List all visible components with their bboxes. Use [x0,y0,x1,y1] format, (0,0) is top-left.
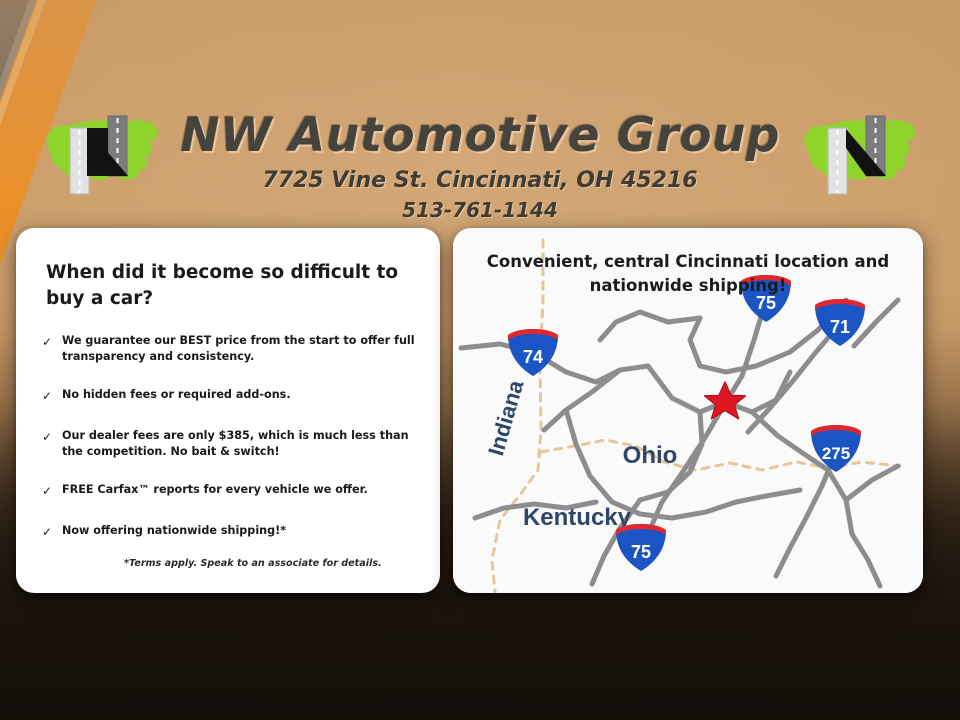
svg-text:275: 275 [822,444,850,463]
list-item: ✓ No hidden fees or required add-ons. [42,387,427,405]
slide-header: NW Automotive Group 7725 Vine St. Cincin… [0,0,960,225]
brand-phone: 513-761-1144 [0,198,960,222]
check-icon: ✓ [42,482,62,500]
check-icon: ✓ [42,428,62,446]
brand-address: 7725 Vine St. Cincinnati, OH 45216 [0,168,960,193]
benefits-list: ✓ We guarantee our BEST price from the s… [42,333,427,563]
slide-canvas: NW Automotive Group 7725 Vine St. Cincin… [0,0,960,720]
location-map-card: Indiana Ohio Kentucky 74 75 [453,228,923,593]
check-icon: ✓ [42,333,62,351]
list-item-label: We guarantee our BEST price from the sta… [62,333,427,365]
list-item: ✓ Now offering nationwide shipping!* [42,523,427,541]
check-icon: ✓ [42,523,62,541]
list-item-label: Our dealer fees are only $385, which is … [62,428,427,460]
svg-text:74: 74 [523,347,543,367]
list-item-label: FREE Carfax™ reports for every vehicle w… [62,482,427,498]
value-proposition-card: When did it become so difficult to buy a… [16,228,440,593]
list-item: ✓ We guarantee our BEST price from the s… [42,333,427,365]
list-item-label: No hidden fees or required add-ons. [62,387,427,403]
map-caption: Convenient, central Cincinnati location … [453,250,923,298]
terms-footnote: *Terms apply. Speak to an associate for … [124,558,382,569]
list-item: ✓ Our dealer fees are only $385, which i… [42,428,427,460]
check-icon: ✓ [42,387,62,405]
state-label-kentucky: Kentucky [523,504,632,531]
svg-text:71: 71 [830,317,850,337]
state-label-ohio: Ohio [623,442,678,469]
list-item-label: Now offering nationwide shipping!* [62,523,427,539]
brand-title: NW Automotive Group [0,108,960,163]
svg-text:75: 75 [631,542,651,562]
value-proposition-heading: When did it become so difficult to buy a… [46,260,416,311]
list-item: ✓ FREE Carfax™ reports for every vehicle… [42,482,427,500]
